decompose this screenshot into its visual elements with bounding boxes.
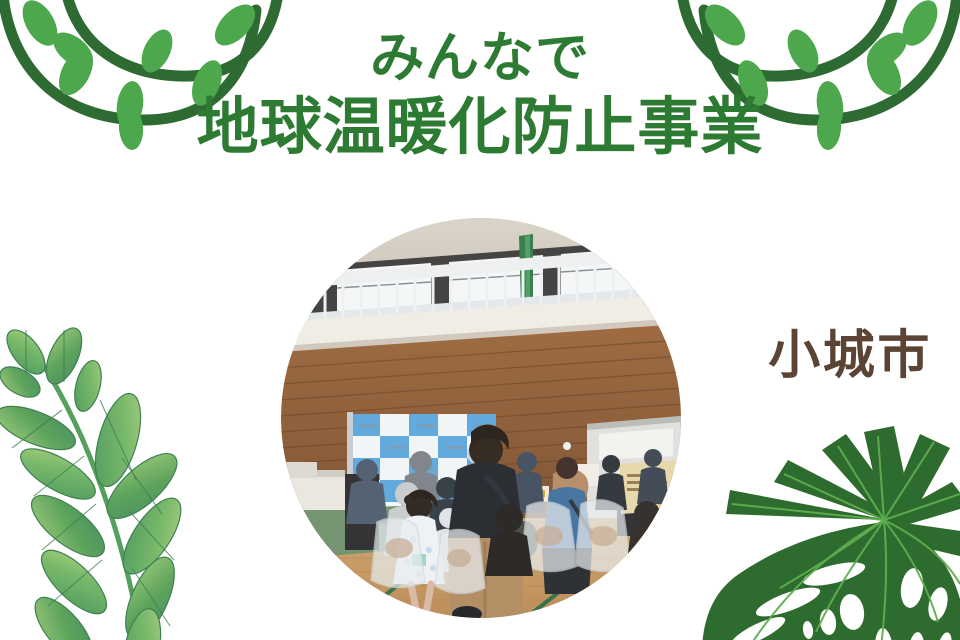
headline-line-2: 地球温暖化防止事業 (0, 95, 960, 158)
page-title: みんなで 地球温暖化防止事業 (0, 30, 960, 158)
eucalyptus-branch-icon (0, 318, 240, 640)
city-label: 小城市 (768, 330, 932, 382)
poster-canvas: みんなで 地球温暖化防止事業 小城市 (0, 0, 960, 640)
headline-line-1: みんなで (0, 30, 960, 95)
monstera-leaf-icon (688, 416, 960, 640)
event-photo (281, 218, 681, 618)
